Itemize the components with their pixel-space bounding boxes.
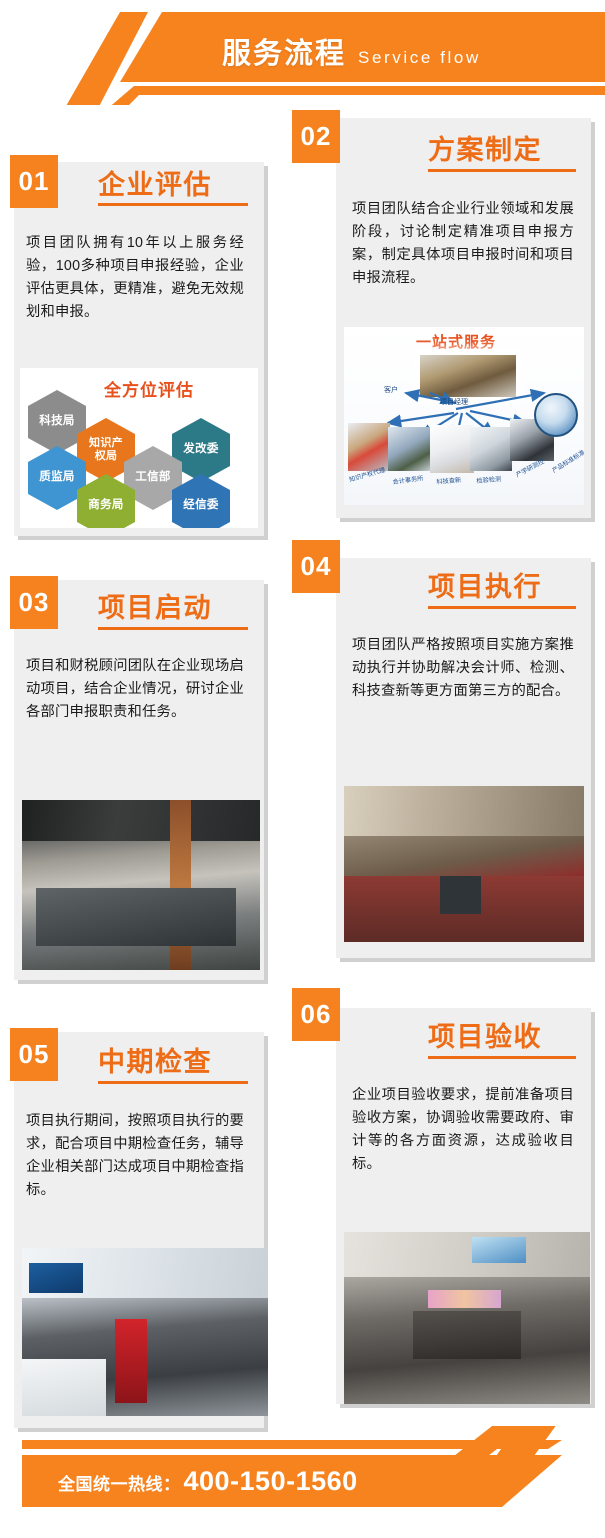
photo-reception-desk bbox=[22, 1359, 106, 1416]
page-header: 服务流程 Service flow bbox=[0, 0, 605, 105]
step-badge-04: 04 bbox=[292, 540, 340, 593]
hexagon-node-label: 知识产权局 bbox=[85, 437, 127, 462]
one-stop-node-customer: 客户 bbox=[384, 385, 398, 395]
footer-hotline-label: 全国统一热线： bbox=[58, 1470, 181, 1495]
step-badge-06: 06 bbox=[292, 988, 340, 1041]
one-stop-certification-seal bbox=[534, 393, 578, 437]
photo-projection-screen bbox=[472, 1237, 526, 1263]
step-title-rule-05 bbox=[98, 1081, 248, 1084]
hexagon-diagram-title: 全方位评估 bbox=[104, 376, 194, 401]
hexagon-diagram: 全方位评估 科技局 知识产权局 发改委 质监局 工信部 经信委 商务局 bbox=[20, 368, 258, 528]
header-underline-stripe bbox=[128, 86, 605, 95]
step-title-01: 企业评估 bbox=[98, 163, 212, 202]
step-badge-03: 03 bbox=[10, 576, 58, 629]
photo-boardroom-table bbox=[413, 1311, 521, 1359]
hexagon-node-label: 工信部 bbox=[135, 471, 170, 484]
step-title-rule-03 bbox=[98, 627, 248, 630]
photo-laptop bbox=[440, 876, 481, 913]
step-title-05: 中期检查 bbox=[98, 1040, 212, 1079]
step-badge-05: 05 bbox=[10, 1028, 58, 1081]
step-title-rule-02 bbox=[428, 169, 576, 172]
hexagon-node-label: 发改委 bbox=[183, 443, 218, 456]
step-title-04: 项目执行 bbox=[428, 565, 542, 604]
step-badge-02: 02 bbox=[292, 110, 340, 163]
step-photo-06-boardroom bbox=[344, 1232, 590, 1404]
step-title-06: 项目验收 bbox=[428, 1015, 542, 1054]
one-stop-node-manager: 项目经理 bbox=[440, 397, 468, 407]
footer-top-stripe bbox=[22, 1440, 562, 1449]
photo-back-wall bbox=[344, 1232, 590, 1277]
page-subtitle: Service flow bbox=[358, 48, 481, 68]
step-title-rule-06 bbox=[428, 1056, 576, 1059]
step-title-03: 项目启动 bbox=[98, 586, 212, 625]
photo-display-screen bbox=[29, 1263, 83, 1293]
footer-hotline-group: 全国统一热线： 400-150-1560 bbox=[58, 1466, 358, 1497]
one-stop-thumb-3 bbox=[470, 427, 512, 471]
hexagon-node-label: 质监局 bbox=[39, 471, 74, 484]
step-body-01: 项目团队拥有10年以上服务经验，100多种项目申报经验，企业评估更具体，更精准，… bbox=[26, 232, 244, 325]
one-stop-service-diagram: 一站式服务 客户 项目经理 bbox=[344, 327, 584, 505]
footer-hotline-number[interactable]: 400-150-1560 bbox=[184, 1466, 358, 1497]
step-body-05: 项目执行期间，按照项目执行的要求，配合项目中期检查任务，辅导企业相关部门达成项目… bbox=[26, 1110, 244, 1203]
one-stop-thumb-2 bbox=[430, 425, 474, 473]
header-title-group: 服务流程 Service flow bbox=[222, 30, 481, 72]
service-flow-infographic: 服务流程 Service flow 01 企业评估 项目团队拥有10年以上服务经… bbox=[0, 0, 605, 1538]
step-body-02: 项目团队结合企业行业领域和发展阶段，讨论制定精准项目申报方案，制定具体项目申报时… bbox=[352, 198, 574, 291]
one-stop-thumb-1 bbox=[388, 427, 432, 471]
step-title-rule-04 bbox=[428, 606, 576, 609]
step-body-03: 项目和财税顾问团队在企业现场启动项目，结合企业情况，研讨企业各部门申报职责和任务… bbox=[26, 655, 244, 724]
step-photo-05-lobby-visit bbox=[22, 1248, 268, 1416]
step-body-04: 项目团队严格按照项目实施方案推动执行并协助解决会计师、检测、科技查新等更方面第三… bbox=[352, 634, 574, 703]
page-footer: 全国统一热线： 400-150-1560 bbox=[0, 1426, 605, 1538]
step-badge-01: 01 bbox=[10, 155, 58, 208]
photo-ceiling bbox=[22, 800, 260, 841]
hexagon-node-label: 商务局 bbox=[88, 499, 123, 512]
hexagon-node-label: 经信委 bbox=[183, 499, 218, 512]
step-title-rule-01 bbox=[98, 203, 248, 206]
photo-flowers bbox=[428, 1290, 502, 1307]
page-title: 服务流程 bbox=[222, 30, 346, 72]
step-photo-03-conference-room bbox=[22, 800, 260, 970]
photo-back-wall bbox=[344, 786, 584, 836]
hexagon-node-label: 科技局 bbox=[39, 415, 74, 428]
photo-table bbox=[36, 888, 236, 946]
step-body-06: 企业项目验收要求，提前准备项目验收方案，协调验收需要政府、审计等的各方面资源，达… bbox=[352, 1084, 574, 1177]
photo-red-coat-person bbox=[115, 1319, 147, 1403]
step-photo-04-meeting-laptops bbox=[344, 786, 584, 942]
step-title-02: 方案制定 bbox=[428, 128, 542, 167]
